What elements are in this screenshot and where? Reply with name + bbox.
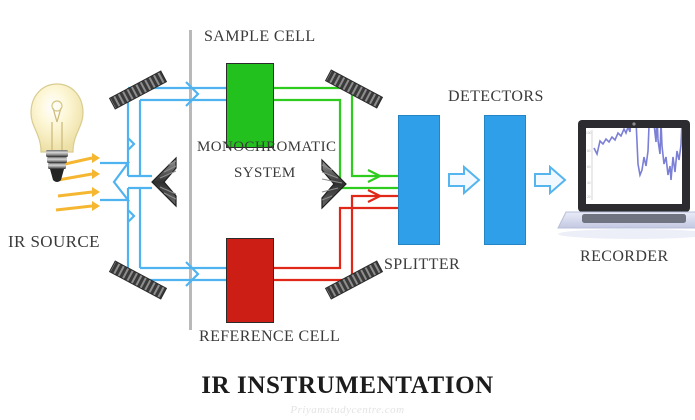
ir-source-rays: [56, 158, 92, 210]
label-recorder: RECORDER: [580, 248, 669, 266]
recorder-laptop-icon: 100 80 60 40 20: [558, 93, 695, 239]
svg-text:100: 100: [586, 131, 592, 135]
mirror-top-right-icon: [326, 70, 383, 108]
flow-arrow-splitter-to-detector: [449, 167, 479, 193]
flow-arrow-detector-to-recorder: [535, 167, 565, 193]
optical-divider-line: [189, 30, 192, 330]
splitter-box: [398, 115, 440, 245]
label-splitter: SPLITTER: [384, 256, 460, 274]
label-monochromatic-system-line2: SYSTEM: [234, 165, 296, 182]
svg-text:60: 60: [587, 165, 591, 169]
mirror-bottom-right-icon: [326, 261, 383, 299]
reference-beam-path: [274, 190, 398, 280]
mirror-center-left-icon: [152, 158, 176, 206]
label-monochromatic-system-line1: MONOCHROMATIC: [197, 139, 336, 156]
label-ir-source: IR SOURCE: [8, 232, 100, 252]
svg-text:80: 80: [587, 149, 591, 153]
watermark: Priyamstudycentre.com: [0, 404, 695, 416]
sample-cell-box: [226, 63, 274, 148]
label-detectors: DETECTORS: [448, 88, 544, 106]
mirror-center-right-icon: [322, 160, 346, 208]
label-sample-cell: SAMPLE CELL: [204, 28, 316, 46]
diagram-overlay: 100 80 60 40 20: [0, 0, 695, 420]
svg-text:40: 40: [587, 181, 591, 185]
figure-title: IR INSTRUMENTATION: [0, 372, 695, 400]
reference-cell-box: [226, 238, 274, 323]
source-beam-paths: [100, 82, 226, 286]
detector-box: [484, 115, 526, 245]
ir-instrumentation-diagram: 100 80 60 40 20 IR SOURCE SAMPLE CELL MO…: [0, 0, 695, 420]
spectrum-trace: [594, 93, 691, 180]
ir-source-bulb-icon: [31, 84, 83, 182]
mirror-top-left-icon: [110, 71, 167, 109]
ir-source-ray-heads: [92, 153, 100, 211]
mirror-bottom-left-icon: [110, 261, 167, 299]
label-reference-cell: REFERENCE CELL: [199, 328, 340, 346]
svg-text:20: 20: [587, 195, 591, 199]
